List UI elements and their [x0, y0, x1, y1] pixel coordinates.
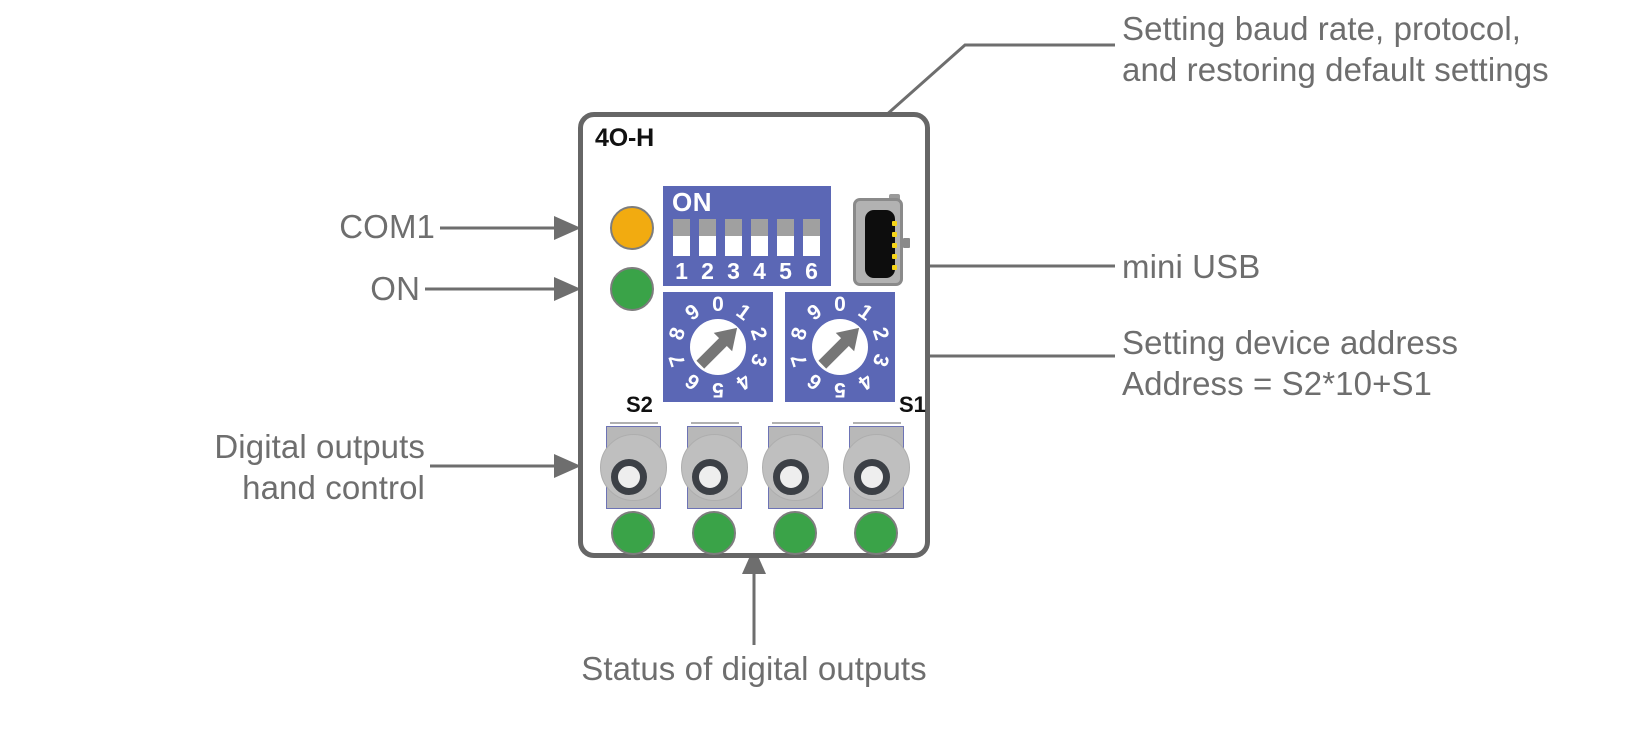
annotation-com1: COM1: [200, 206, 435, 247]
usb-pin-1: [892, 221, 897, 226]
dip-switch-1-bottom: [673, 236, 690, 256]
mini-usb-connector[interactable]: [853, 198, 903, 286]
dip-switch-4-top: [751, 219, 768, 236]
dip-on-label: ON: [672, 187, 712, 218]
dip-switch-1[interactable]: [673, 219, 690, 256]
rotary-switch-s2[interactable]: 0123456789: [663, 292, 773, 402]
dip-switch-3-top: [725, 219, 742, 236]
dip-switch-6[interactable]: [803, 219, 820, 256]
dip-number-1: 1: [673, 258, 690, 285]
dip-switch-3-bottom: [725, 236, 742, 256]
push-button-1-cap[interactable]: [611, 459, 647, 495]
push-button-2[interactable]: [687, 426, 742, 509]
push-button-2-cap[interactable]: [692, 459, 728, 495]
dip-switch-5-top: [777, 219, 794, 236]
push-button-2-disc: [681, 434, 748, 501]
push-button-2-top-line: [691, 422, 739, 424]
dip-switch-4[interactable]: [751, 219, 768, 256]
push-button-1-top-line: [610, 422, 658, 424]
dip-switch-block[interactable]: ON 1 2 3 4 5 6: [663, 186, 831, 286]
usb-port-cavity: [865, 210, 895, 278]
rotary-s2-label: S2: [626, 392, 653, 418]
push-button-4-top-line: [853, 422, 901, 424]
diagram-canvas: Setting baud rate, protocol, and restori…: [0, 0, 1648, 754]
rotary-s1-label: S1: [899, 392, 926, 418]
dip-switch-6-top: [803, 219, 820, 236]
status-led-4: [854, 511, 898, 555]
rotary-switch-s1[interactable]: 0123456789: [785, 292, 895, 402]
usb-pin-5: [892, 265, 897, 270]
power-on-led: [610, 267, 654, 311]
usb-pin-2: [892, 232, 897, 237]
push-button-3-top-line: [772, 422, 820, 424]
push-button-3-disc: [762, 434, 829, 501]
dip-switch-3[interactable]: [725, 219, 742, 256]
push-button-4-cap[interactable]: [854, 459, 890, 495]
dip-switch-4-bottom: [751, 236, 768, 256]
rotary-s1-digit-5: 5: [830, 379, 850, 399]
push-button-3-cap[interactable]: [773, 459, 809, 495]
annotation-device-address: Setting device address Address = S2*10+S…: [1122, 322, 1458, 404]
dip-switch-1-top: [673, 219, 690, 236]
dip-switch-6-bottom: [803, 236, 820, 256]
com1-led: [610, 206, 654, 250]
dip-number-6: 6: [803, 258, 820, 285]
dip-switch-5-bottom: [777, 236, 794, 256]
annotation-power-on: ON: [200, 268, 420, 309]
rotary-s2-digit-0: 0: [708, 295, 728, 315]
annotation-dip-switch: Setting baud rate, protocol, and restori…: [1122, 8, 1549, 90]
push-button-4[interactable]: [849, 426, 904, 509]
usb-pin-3: [892, 243, 897, 248]
dip-number-5: 5: [777, 258, 794, 285]
annotation-status-outputs: Status of digital outputs: [578, 648, 930, 689]
dip-switch-2-bottom: [699, 236, 716, 256]
dip-number-2: 2: [699, 258, 716, 285]
dip-number-4: 4: [751, 258, 768, 285]
annotation-hand-control: Digital outputs hand control: [140, 426, 425, 508]
push-button-3[interactable]: [768, 426, 823, 509]
annotation-mini-usb: mini USB: [1122, 246, 1260, 287]
push-button-4-disc: [843, 434, 910, 501]
push-button-1[interactable]: [606, 426, 661, 509]
dip-switch-5[interactable]: [777, 219, 794, 256]
usb-shell: [853, 198, 903, 286]
push-button-1-disc: [600, 434, 667, 501]
status-led-1: [611, 511, 655, 555]
dip-switch-2-top: [699, 219, 716, 236]
rotary-s2-digit-5: 5: [708, 379, 728, 399]
dip-switch-2[interactable]: [699, 219, 716, 256]
rotary-s1-digit-0: 0: [830, 295, 850, 315]
usb-shell-nub: [903, 238, 910, 248]
status-led-3: [773, 511, 817, 555]
usb-pin-4: [892, 254, 897, 259]
dip-number-3: 3: [725, 258, 742, 285]
status-led-2: [692, 511, 736, 555]
device-model-label: 4O-H: [595, 124, 654, 153]
